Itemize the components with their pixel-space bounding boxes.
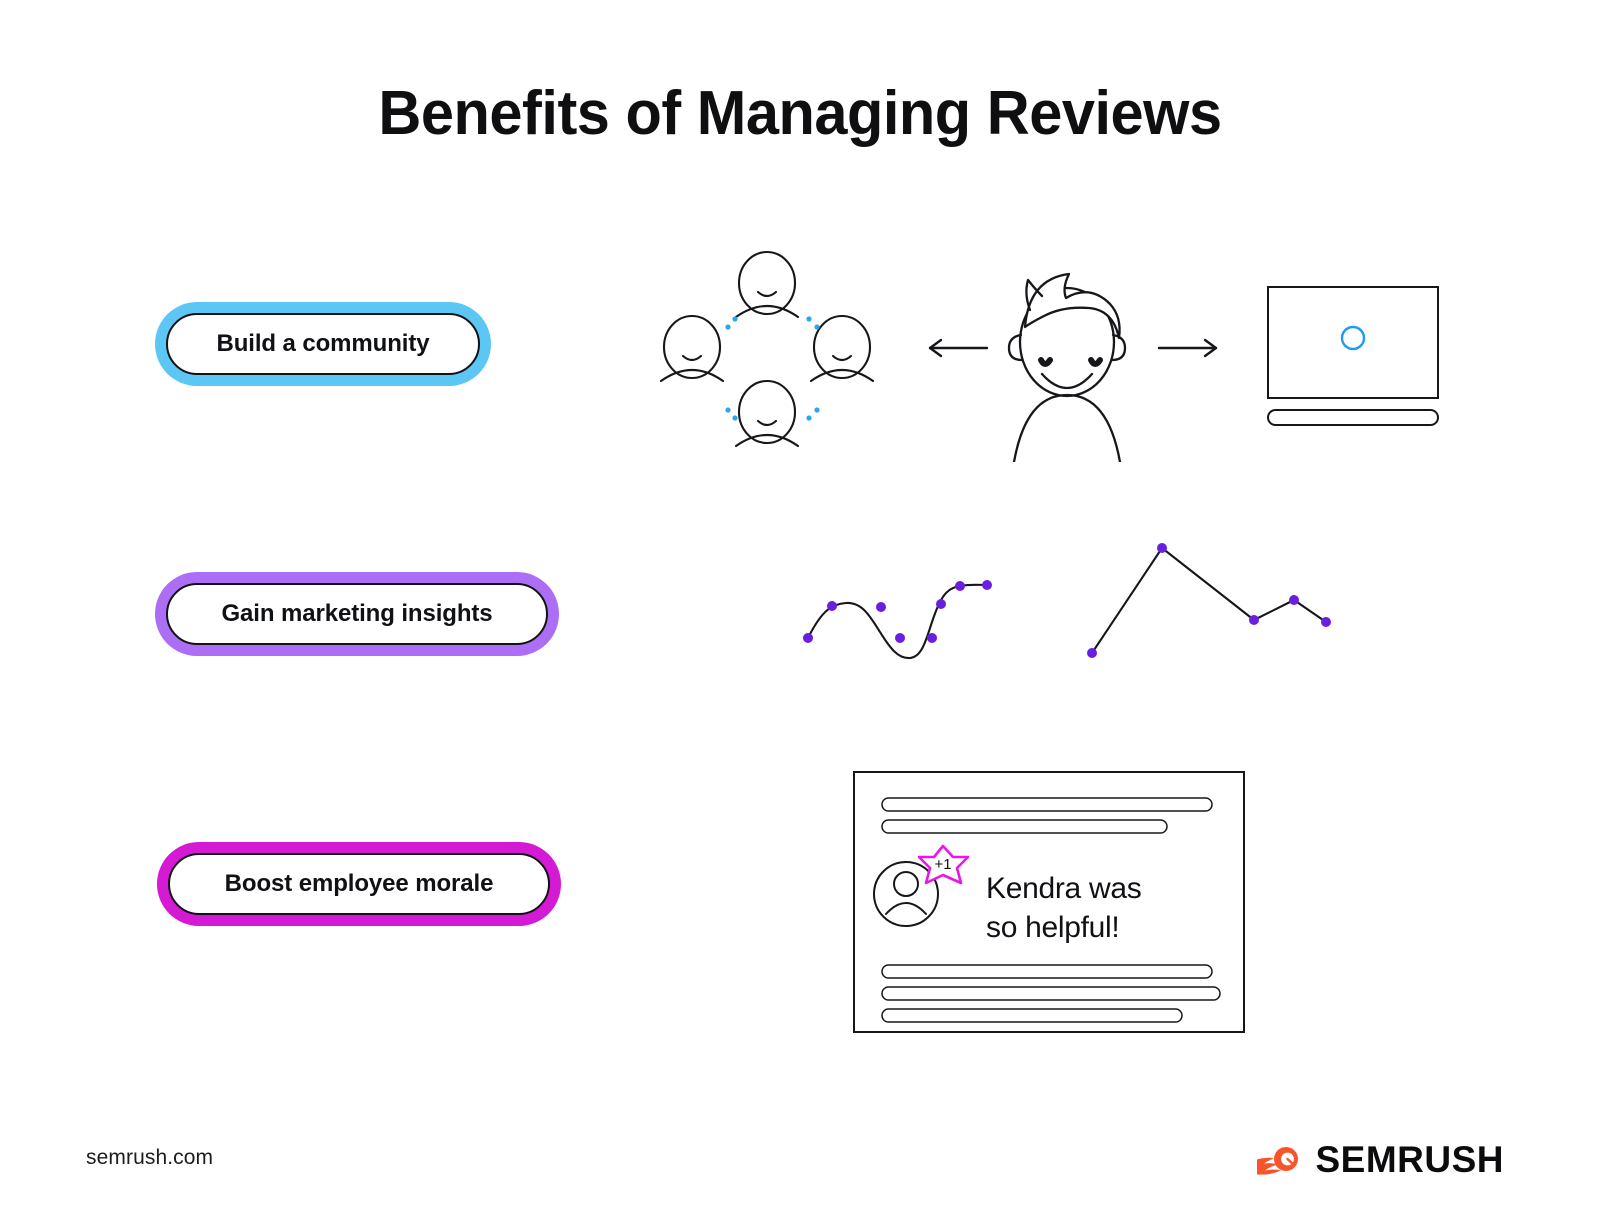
community-illustration-svg bbox=[640, 232, 1440, 462]
person-right bbox=[811, 316, 873, 381]
benefit-pill-build-a-community[interactable]: Build a community bbox=[166, 313, 480, 375]
person-bottom bbox=[736, 381, 798, 446]
semrush-logo: SEMRUSH bbox=[1256, 1139, 1504, 1179]
chart-data-points bbox=[1087, 543, 1331, 658]
charts-svg bbox=[780, 528, 1350, 668]
person-center bbox=[1009, 274, 1125, 462]
benefit-pill-boost-employee-morale[interactable]: Boost employee morale bbox=[168, 853, 550, 915]
infographic-canvas: Benefits of Managing Reviews Build a com… bbox=[0, 0, 1600, 1227]
footer-site-url[interactable]: semrush.com bbox=[86, 1146, 213, 1170]
chart-smooth-curve bbox=[803, 580, 992, 658]
benefit-pill-gain-marketing-insights[interactable]: Gain marketing insights bbox=[166, 583, 548, 645]
placeholder-bars-bottom bbox=[882, 965, 1220, 1022]
community-network-illustration bbox=[640, 232, 1440, 467]
review-card-illustration: +1 Kendra was so helpful! bbox=[840, 758, 1260, 1053]
review-quote-line-1: Kendra was bbox=[986, 872, 1141, 905]
monitor-icon bbox=[1268, 287, 1438, 425]
person-top bbox=[736, 252, 798, 317]
line-charts-illustration bbox=[780, 528, 1350, 673]
people-group bbox=[661, 252, 873, 446]
person-left bbox=[661, 316, 723, 381]
semrush-mark-icon bbox=[1256, 1139, 1302, 1179]
chart-polyline bbox=[1087, 543, 1331, 658]
review-card-svg: +1 Kendra was so helpful! bbox=[840, 758, 1260, 1048]
badge-label: +1 bbox=[934, 856, 951, 873]
benefit-pill-label: Boost employee morale bbox=[225, 870, 494, 898]
chart-data-points bbox=[803, 580, 992, 643]
semrush-wordmark: SEMRUSH bbox=[1315, 1141, 1504, 1178]
review-quote-line-2: so helpful! bbox=[986, 911, 1119, 944]
arrow-left-icon bbox=[930, 340, 987, 356]
page-title: Benefits of Managing Reviews bbox=[32, 78, 1568, 149]
arrow-right-icon bbox=[1159, 340, 1216, 356]
benefit-pill-label: Build a community bbox=[217, 330, 430, 358]
benefit-pill-label: Gain marketing insights bbox=[221, 600, 492, 628]
